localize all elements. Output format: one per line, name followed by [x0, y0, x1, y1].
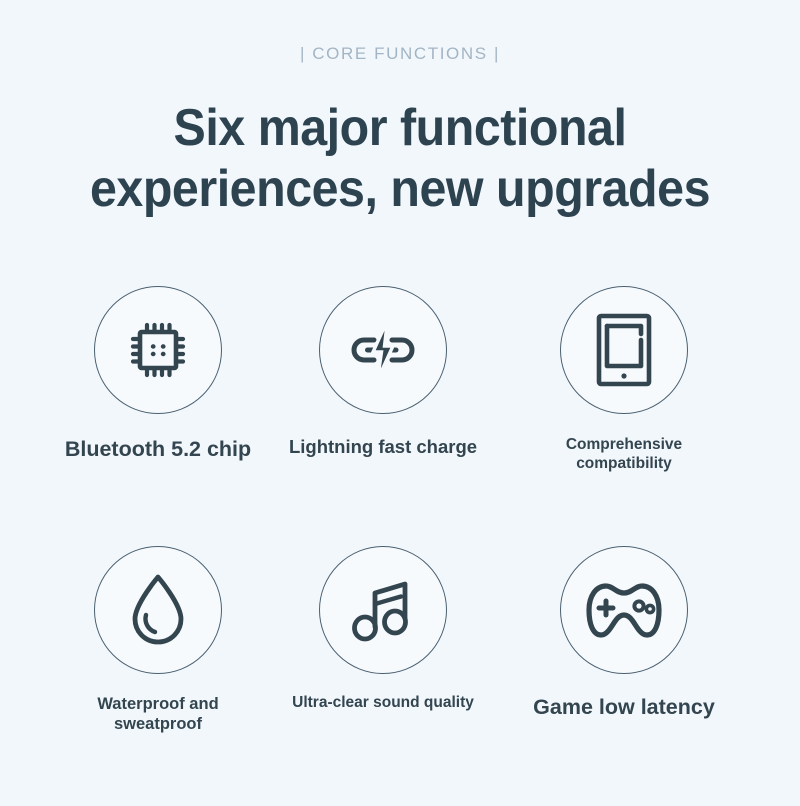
- feature-item-low-latency: Game low latency: [524, 546, 724, 720]
- icon-circle: [319, 286, 447, 414]
- icon-circle: [94, 286, 222, 414]
- feature-label: Game low latency: [524, 694, 724, 720]
- feature-label: Ultra-clear sound quality: [283, 694, 483, 713]
- headline-line-2: experiences, new upgrades: [28, 159, 772, 220]
- feature-row: Bluetooth 5.2 chip Lightning fast charge: [0, 286, 800, 546]
- feature-label: Bluetooth 5.2 chip: [58, 436, 258, 462]
- feature-grid: Bluetooth 5.2 chip Lightning fast charge: [0, 286, 800, 806]
- section-eyebrow: | CORE FUNCTIONS |: [0, 44, 800, 64]
- cpu-chip-icon: [121, 313, 195, 387]
- headline-line-1: Six major functional: [174, 99, 627, 157]
- feature-item-waterproof: Waterproof and sweatproof: [58, 546, 258, 734]
- feature-item-fast-charge: Lightning fast charge: [283, 286, 483, 459]
- feature-item-bluetooth-chip: Bluetooth 5.2 chip: [58, 286, 258, 462]
- feature-item-compatibility: Comprehensive compatibility: [524, 286, 724, 474]
- icon-circle: [319, 546, 447, 674]
- feature-label: Lightning fast charge: [283, 436, 483, 459]
- water-drop-icon: [126, 570, 190, 650]
- page-title: Six major functional experiences, new up…: [28, 98, 772, 221]
- feature-item-sound-quality: Ultra-clear sound quality: [283, 546, 483, 713]
- lightning-charge-icon: [343, 312, 423, 388]
- icon-circle: [94, 546, 222, 674]
- tablet-device-icon: [593, 311, 655, 389]
- feature-label: Waterproof and sweatproof: [58, 694, 258, 734]
- icon-circle: [560, 546, 688, 674]
- feature-label: Comprehensive compatibility: [524, 436, 724, 474]
- music-note-icon: [347, 571, 419, 649]
- gamepad-icon: [582, 577, 666, 643]
- icon-circle: [560, 286, 688, 414]
- feature-row: Waterproof and sweatproof Ultra-clear so…: [0, 546, 800, 806]
